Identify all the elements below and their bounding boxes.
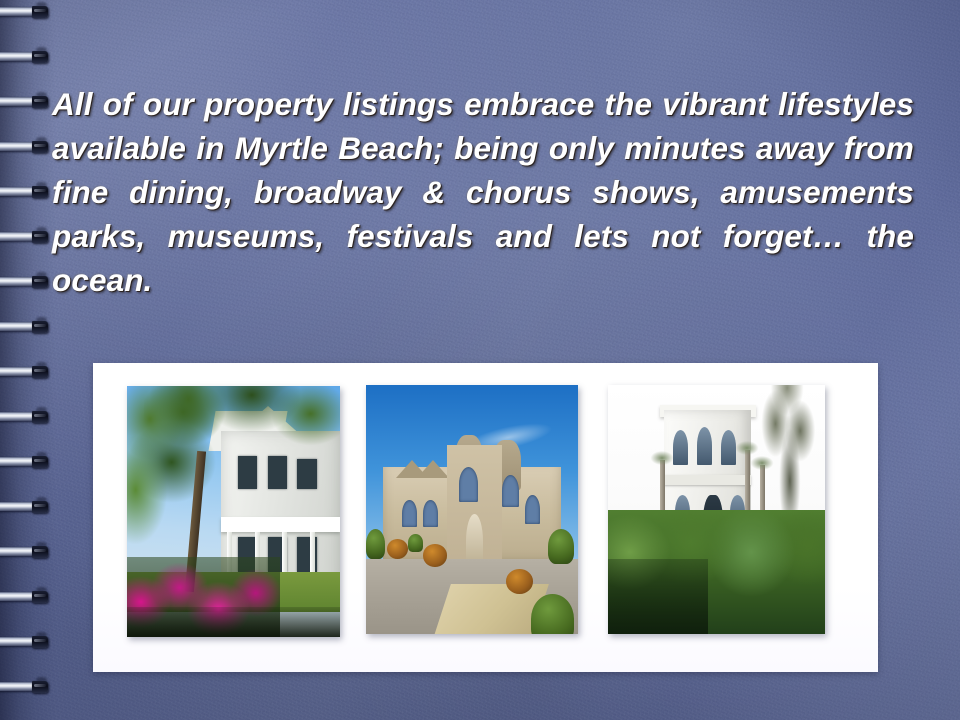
binding-coil [0, 591, 48, 604]
property-photo-3[interactable] [608, 385, 825, 634]
binding-hook [32, 366, 48, 378]
binding-hook [32, 276, 48, 288]
property-photo-1[interactable] [127, 386, 340, 637]
binding-coil [0, 6, 48, 19]
binding-hook [32, 681, 48, 693]
binding-coil [0, 276, 48, 289]
photo-1-scene [127, 386, 340, 637]
binding-coil [0, 186, 48, 199]
binding-coil [0, 411, 48, 424]
binding-coil [0, 636, 48, 649]
binding-hook [32, 321, 48, 333]
binding-coil [0, 546, 48, 559]
binding-hook [32, 636, 48, 648]
binding-coil [0, 96, 48, 109]
binding-coil [0, 501, 48, 514]
binding-hook [32, 6, 48, 18]
binding-hook [32, 411, 48, 423]
binding-coil [0, 231, 48, 244]
binding-hook [32, 546, 48, 558]
binding-hook [32, 591, 48, 603]
binding-coil [0, 681, 48, 694]
slide-paragraph: All of our property listings embrace the… [52, 82, 914, 346]
photo-panel [93, 363, 878, 672]
binding-hook [32, 186, 48, 198]
binding-hook [32, 456, 48, 468]
spiral-binding [0, 0, 56, 720]
property-photo-2[interactable] [366, 385, 578, 634]
binding-hook [32, 51, 48, 63]
binding-coil [0, 321, 48, 334]
binding-coil [0, 456, 48, 469]
binding-coil [0, 366, 48, 379]
photo-3-scene [608, 385, 825, 634]
binding-hook [32, 501, 48, 513]
presentation-slide: All of our property listings embrace the… [0, 0, 960, 720]
slide-text-block: All of our property listings embrace the… [52, 82, 914, 346]
binding-hook [32, 231, 48, 243]
binding-coil [0, 51, 48, 64]
binding-hook [32, 141, 48, 153]
photo-2-scene [366, 385, 578, 634]
binding-coil [0, 141, 48, 154]
binding-hook [32, 96, 48, 108]
